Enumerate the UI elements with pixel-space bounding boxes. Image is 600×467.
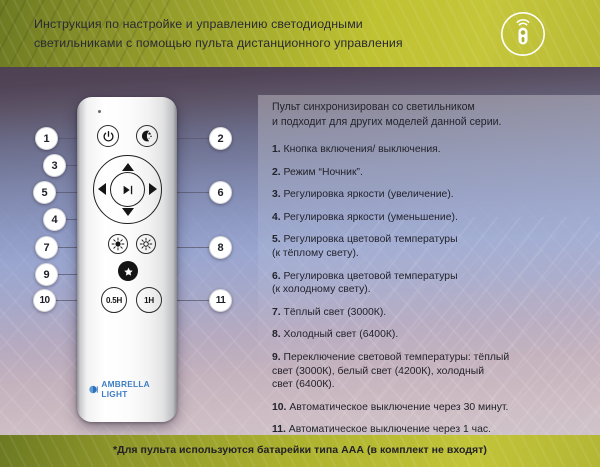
brand-logo: AMBRELLA LIGHT <box>89 382 167 396</box>
play-pause-button[interactable] <box>110 172 145 207</box>
instruction-text: Кнопка включения/ выключения. <box>281 144 441 155</box>
cool-light-button[interactable] <box>136 234 156 254</box>
brand-name: AMBRELLA LIGHT <box>101 379 167 399</box>
instruction-number: 8. <box>272 329 281 340</box>
remote-control-body: 0.5H 1H AMBRELLA LIGHT <box>77 97 177 422</box>
instruction-item: 4. Регулировка яркости (уменьшение). <box>272 211 588 225</box>
page-header: Инструкция по настройке и управлению све… <box>0 0 600 67</box>
instruction-item: 2. Режим “Ночник”. <box>272 166 588 180</box>
callout-7[interactable]: 7 <box>35 236 58 259</box>
instruction-number: 2. <box>272 167 281 178</box>
triangle-down-icon[interactable] <box>122 208 134 216</box>
instruction-text: Регулировка яркости (увеличение). <box>281 189 454 200</box>
sun-outline-icon <box>139 237 153 251</box>
instruction-text: Автоматическое выключение через 1 час. <box>286 424 491 435</box>
instruction-item: 3. Регулировка яркости (увеличение). <box>272 188 588 202</box>
callout-2[interactable]: 2 <box>209 127 232 150</box>
page-title: Инструкция по настройке и управлению све… <box>34 15 464 52</box>
instruction-number: 7. <box>272 307 281 318</box>
star-icon <box>123 266 134 277</box>
instructions-list: 1. Кнопка включения/ выключения.2. Режим… <box>272 143 588 435</box>
instruction-item: 6. Регулировка цветовой температуры (к х… <box>272 270 588 297</box>
timer-1hour-label: 1H <box>144 296 154 305</box>
sun-filled-icon <box>111 237 125 251</box>
instructions-panel: Пульт синхронизирован со светильником и … <box>272 100 588 435</box>
instruction-number: 6. <box>272 271 281 282</box>
temperature-cycle-button[interactable] <box>118 261 138 281</box>
warm-light-button[interactable] <box>108 234 128 254</box>
callout-1[interactable]: 1 <box>35 127 58 150</box>
instruction-number: 5. <box>272 234 281 245</box>
instruction-text: Режим “Ночник”. <box>281 167 363 178</box>
instruction-text: Регулировка цветовой температуры (к тёпл… <box>272 234 458 259</box>
battery-note: *Для пульта используются батарейки типа … <box>0 444 600 456</box>
remote-signal-icon <box>500 11 546 57</box>
ir-led-indicator <box>98 110 101 113</box>
instruction-number: 9. <box>272 352 281 363</box>
callout-5[interactable]: 5 <box>33 181 56 204</box>
callout-6[interactable]: 6 <box>209 181 232 204</box>
moon-stars-icon <box>140 129 154 143</box>
instruction-item: 7. Тёплый свет (3000К). <box>272 306 588 320</box>
instruction-number: 4. <box>272 212 281 223</box>
ambrella-mark-icon <box>89 384 98 395</box>
instruction-item: 9. Переключение световой температуры: тё… <box>272 351 588 392</box>
callout-8[interactable]: 8 <box>209 236 232 259</box>
instruction-item: 5. Регулировка цветовой температуры (к т… <box>272 233 588 260</box>
instruction-item: 1. Кнопка включения/ выключения. <box>272 143 588 157</box>
instruction-item: 10. Автоматическое выключение через 30 м… <box>272 401 588 415</box>
callout-3[interactable]: 3 <box>43 154 66 177</box>
power-button[interactable] <box>97 125 119 147</box>
triangle-right-icon[interactable] <box>149 183 157 195</box>
instruction-number: 1. <box>272 144 281 155</box>
instruction-number: 10. <box>272 402 286 413</box>
callout-9[interactable]: 9 <box>35 263 58 286</box>
instruction-item: 11. Автоматическое выключение через 1 ча… <box>272 423 588 435</box>
instruction-number: 11. <box>272 424 286 435</box>
instruction-text: Регулировка цветовой температуры (к холо… <box>272 271 458 296</box>
instruction-text: Холодный свет (6400К). <box>281 329 399 340</box>
instruction-item: 8. Холодный свет (6400К). <box>272 328 588 342</box>
infographic-page: Инструкция по настройке и управлению све… <box>0 0 600 467</box>
instruction-text: Переключение световой температуры: тёплы… <box>272 352 509 390</box>
instruction-text: Автоматическое выключение через 30 минут… <box>286 402 508 413</box>
callout-10[interactable]: 10 <box>33 289 56 312</box>
timer-30min-button[interactable]: 0.5H <box>101 287 127 313</box>
instructions-intro: Пульт синхронизирован со светильником и … <box>272 100 588 129</box>
page-footer: *Для пульта используются батарейки типа … <box>0 435 600 467</box>
timer-30min-label: 0.5H <box>106 296 122 305</box>
timer-1hour-button[interactable]: 1H <box>136 287 162 313</box>
play-pause-icon <box>119 183 137 197</box>
callout-11[interactable]: 11 <box>209 289 232 312</box>
triangle-up-icon[interactable] <box>122 163 134 171</box>
night-mode-button[interactable] <box>136 125 158 147</box>
instruction-text: Регулировка яркости (уменьшение). <box>281 212 458 223</box>
power-icon <box>102 130 115 143</box>
instruction-text: Тёплый свет (3000К). <box>281 307 387 318</box>
illustration-stage: 0.5H 1H AMBRELLA LIGHT 1 3 5 4 7 9 10 2 … <box>0 67 600 435</box>
instruction-number: 3. <box>272 189 281 200</box>
triangle-left-icon[interactable] <box>98 183 106 195</box>
callout-4[interactable]: 4 <box>43 208 66 231</box>
